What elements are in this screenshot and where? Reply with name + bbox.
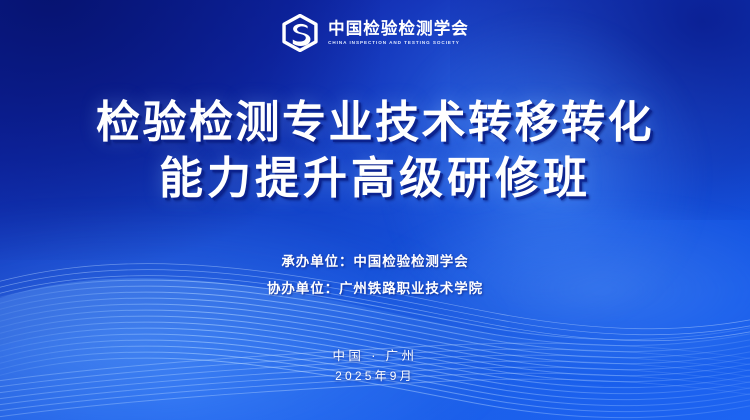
title-line-1: 检验检测专业技术转移转化 [0,95,750,151]
title-line-2: 能力提升高级研修班 [0,151,750,207]
footer-date: 2025年9月 [0,366,750,386]
hexagon-s-emblem-icon [281,14,319,52]
society-logo: 中国检验检测学会 CHINA INSPECTION AND TESTING SO… [0,14,750,52]
poster-title: 检验检测专业技术转移转化 能力提升高级研修班 [0,95,750,207]
footer-block: 中国 · 广州 2025年9月 [0,346,750,386]
logo-name-en: CHINA INSPECTION AND TESTING SOCIETY [328,40,469,46]
logo-name-cn: 中国检验检测学会 [328,20,469,38]
footer-location: 中国 · 广州 [0,346,750,366]
organizer-coorganizer: 协办单位：广州铁路职业技术学院 [0,275,750,302]
poster-canvas: 中国检验检测学会 CHINA INSPECTION AND TESTING SO… [0,0,750,420]
logo-text-block: 中国检验检测学会 CHINA INSPECTION AND TESTING SO… [328,20,469,46]
background-wave-sheen-left [0,210,500,420]
organizer-block: 承办单位：中国检验检测学会 协办单位：广州铁路职业技术学院 [0,248,750,302]
organizer-host: 承办单位：中国检验检测学会 [0,248,750,275]
